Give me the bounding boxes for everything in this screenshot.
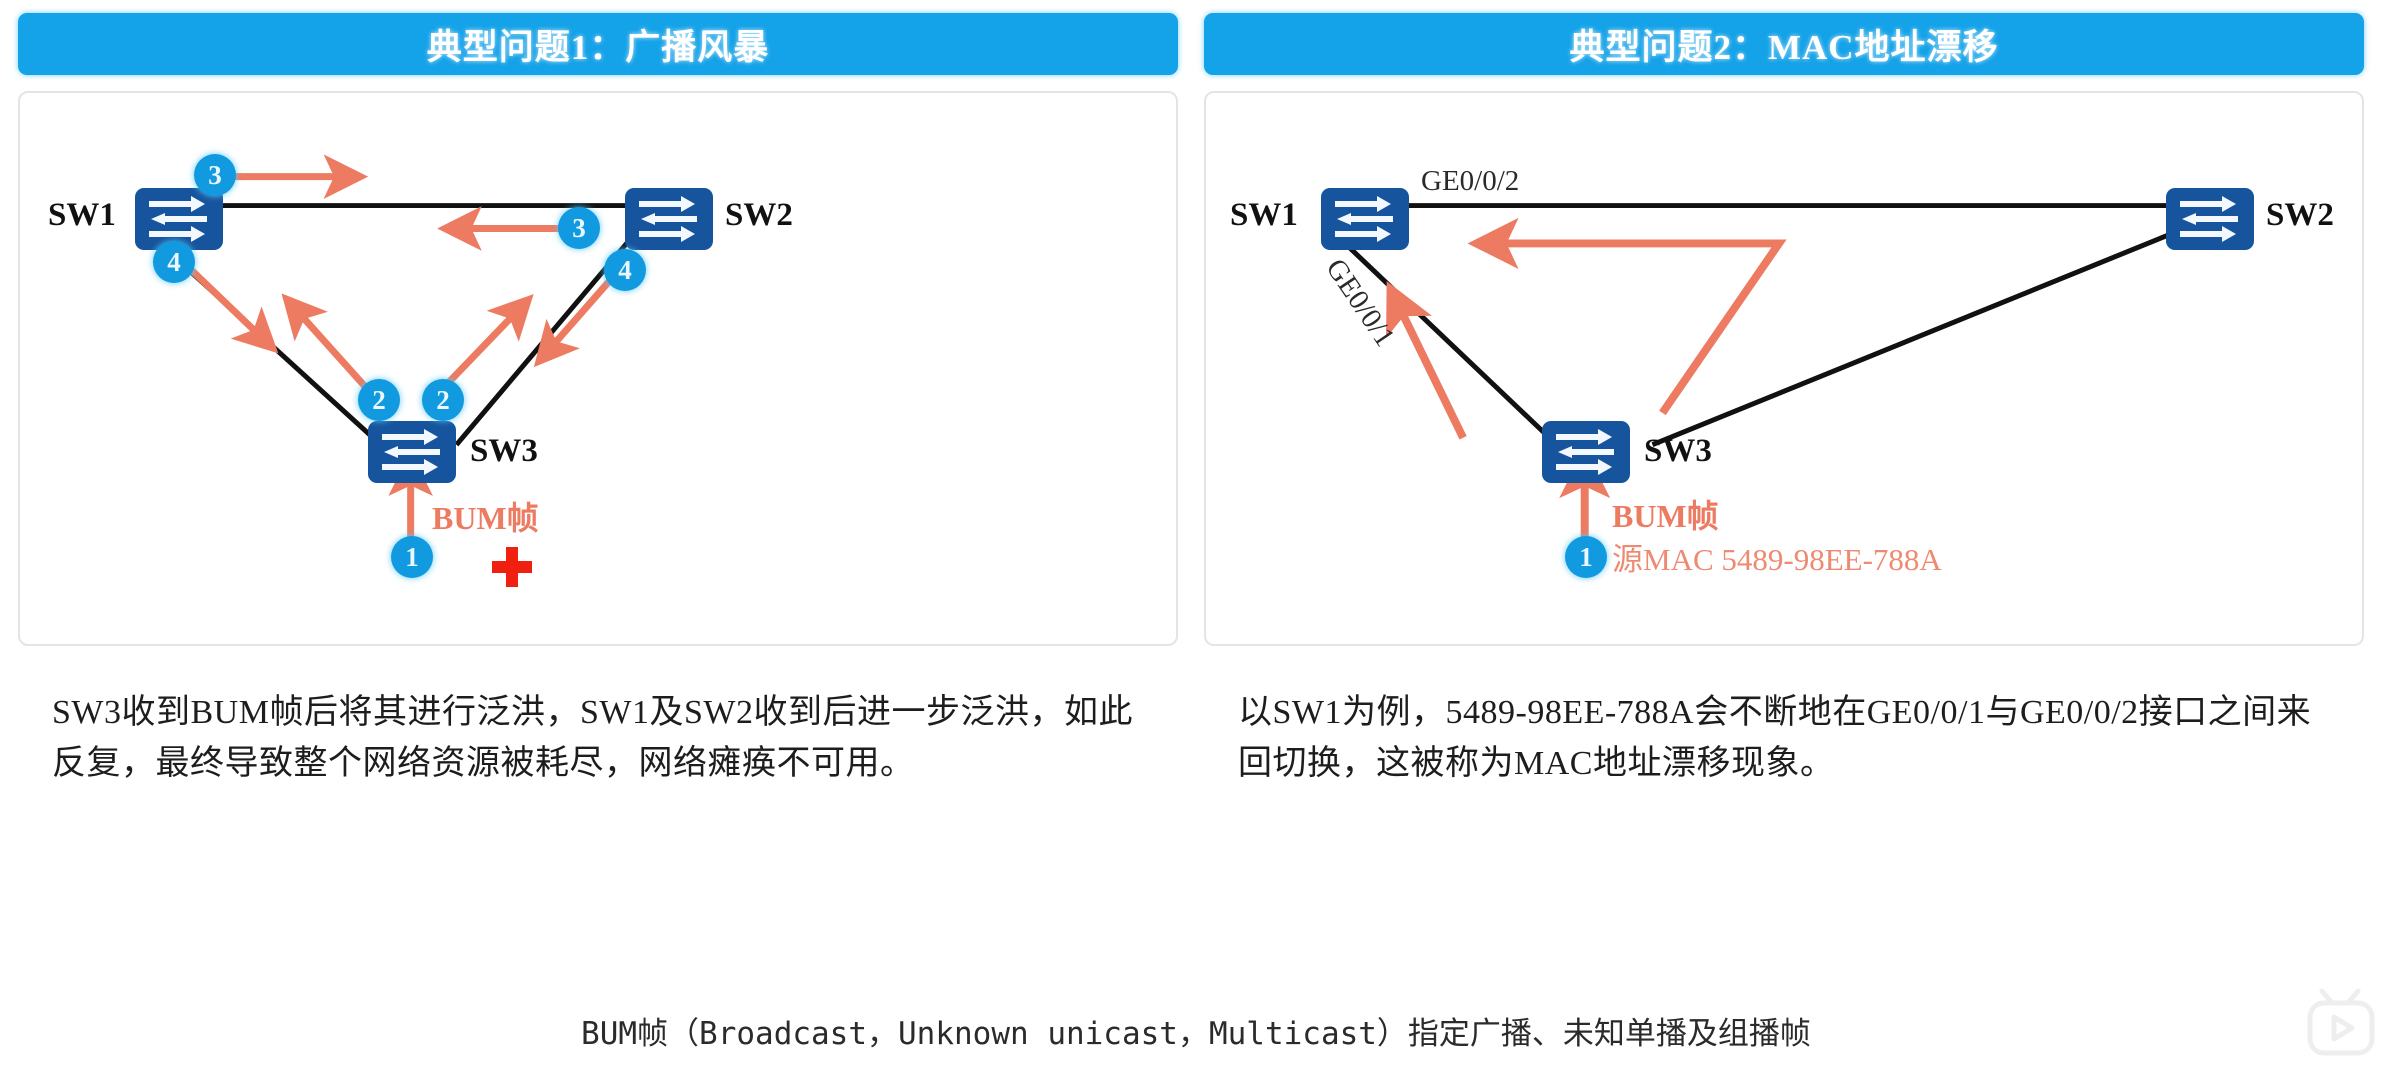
- arrow-4-sw1-down: [184, 263, 257, 333]
- video-platform-watermark-icon: [2294, 983, 2386, 1071]
- panel-header-mac-address-flapping: 典型问题2：MAC地址漂移: [1204, 13, 2364, 75]
- switch-icon: [625, 188, 713, 250]
- step-badge-2-left: 2: [358, 379, 400, 421]
- bum-frame-label: BUM帧: [432, 493, 539, 539]
- arrow-sw3-to-sw2-return: [1501, 243, 1779, 412]
- switch-label-sw3: SW3: [470, 433, 538, 470]
- switch-icon: [1321, 188, 1409, 250]
- arrow-sw3-to-sw1-ge0-0-1: [1401, 311, 1463, 438]
- switch-icon: [1542, 421, 1630, 483]
- switch-label-sw1: SW1: [48, 197, 116, 234]
- step-badge-3-sw1: 3: [194, 154, 236, 196]
- flow-arrows: [1401, 243, 1779, 544]
- panel-title: 典型问题2：MAC地址漂移: [1569, 19, 1998, 70]
- step-badge-4-sw2: 4: [604, 249, 646, 291]
- step-badge-1-bum: 1: [1565, 536, 1607, 578]
- switch-label-sw2: SW2: [2266, 197, 2334, 234]
- switch-label-sw2: SW2: [725, 197, 793, 234]
- panel-mac-address-flapping: 典型问题2：MAC地址漂移: [1204, 13, 2364, 988]
- panel-description: SW3收到BUM帧后将其进行泛洪，SW1及SW2收到后进一步泛洪，如此反复，最终…: [52, 687, 1142, 789]
- switch-icon: [2166, 188, 2254, 250]
- step-badge-2-right: 2: [422, 379, 464, 421]
- footer-caption: BUM帧（Broadcast，Unknown unicast，Multicast…: [0, 1008, 2392, 1053]
- port-label-ge-0-0-2: GE0/0/2: [1421, 165, 1519, 198]
- switch-sw2[interactable]: [2166, 188, 2254, 250]
- panel-header-broadcast-storm: 典型问题1：广播风暴: [18, 13, 1178, 75]
- diagram-card-broadcast-storm: SW1 SW2: [18, 91, 1178, 646]
- panel-title: 典型问题1：广播风暴: [427, 19, 770, 70]
- switch-sw1[interactable]: [1321, 188, 1409, 250]
- red-cross-icon: [490, 545, 534, 589]
- step-badge-4-sw1: 4: [153, 241, 195, 283]
- step-badge-1-bum: 1: [391, 536, 433, 578]
- switch-sw3[interactable]: [368, 421, 456, 483]
- step-badge-3-sw2: 3: [558, 207, 600, 249]
- diagram-card-mac-address-flapping: SW1 SW2: [1204, 91, 2364, 646]
- bum-frame-label: BUM帧: [1612, 491, 1719, 537]
- source-mac-label: 源MAC 5489-98EE-788A: [1612, 534, 1942, 579]
- switch-icon: [368, 421, 456, 483]
- panel-description: 以SW1为例，5489-98EE-788A会不断地在GE0/0/1与GE0/0/…: [1238, 687, 2328, 789]
- slide-canvas: 典型问题1：广播风暴: [0, 0, 2392, 1075]
- flow-arrows: [184, 177, 618, 545]
- switch-label-sw3: SW3: [1644, 433, 1712, 470]
- switch-sw3[interactable]: [1542, 421, 1630, 483]
- switch-label-sw1: SW1: [1230, 197, 1298, 234]
- panel-broadcast-storm: 典型问题1：广播风暴: [18, 13, 1178, 988]
- link-sw2-sw3: [1652, 232, 2174, 444]
- switch-sw2[interactable]: [625, 188, 713, 250]
